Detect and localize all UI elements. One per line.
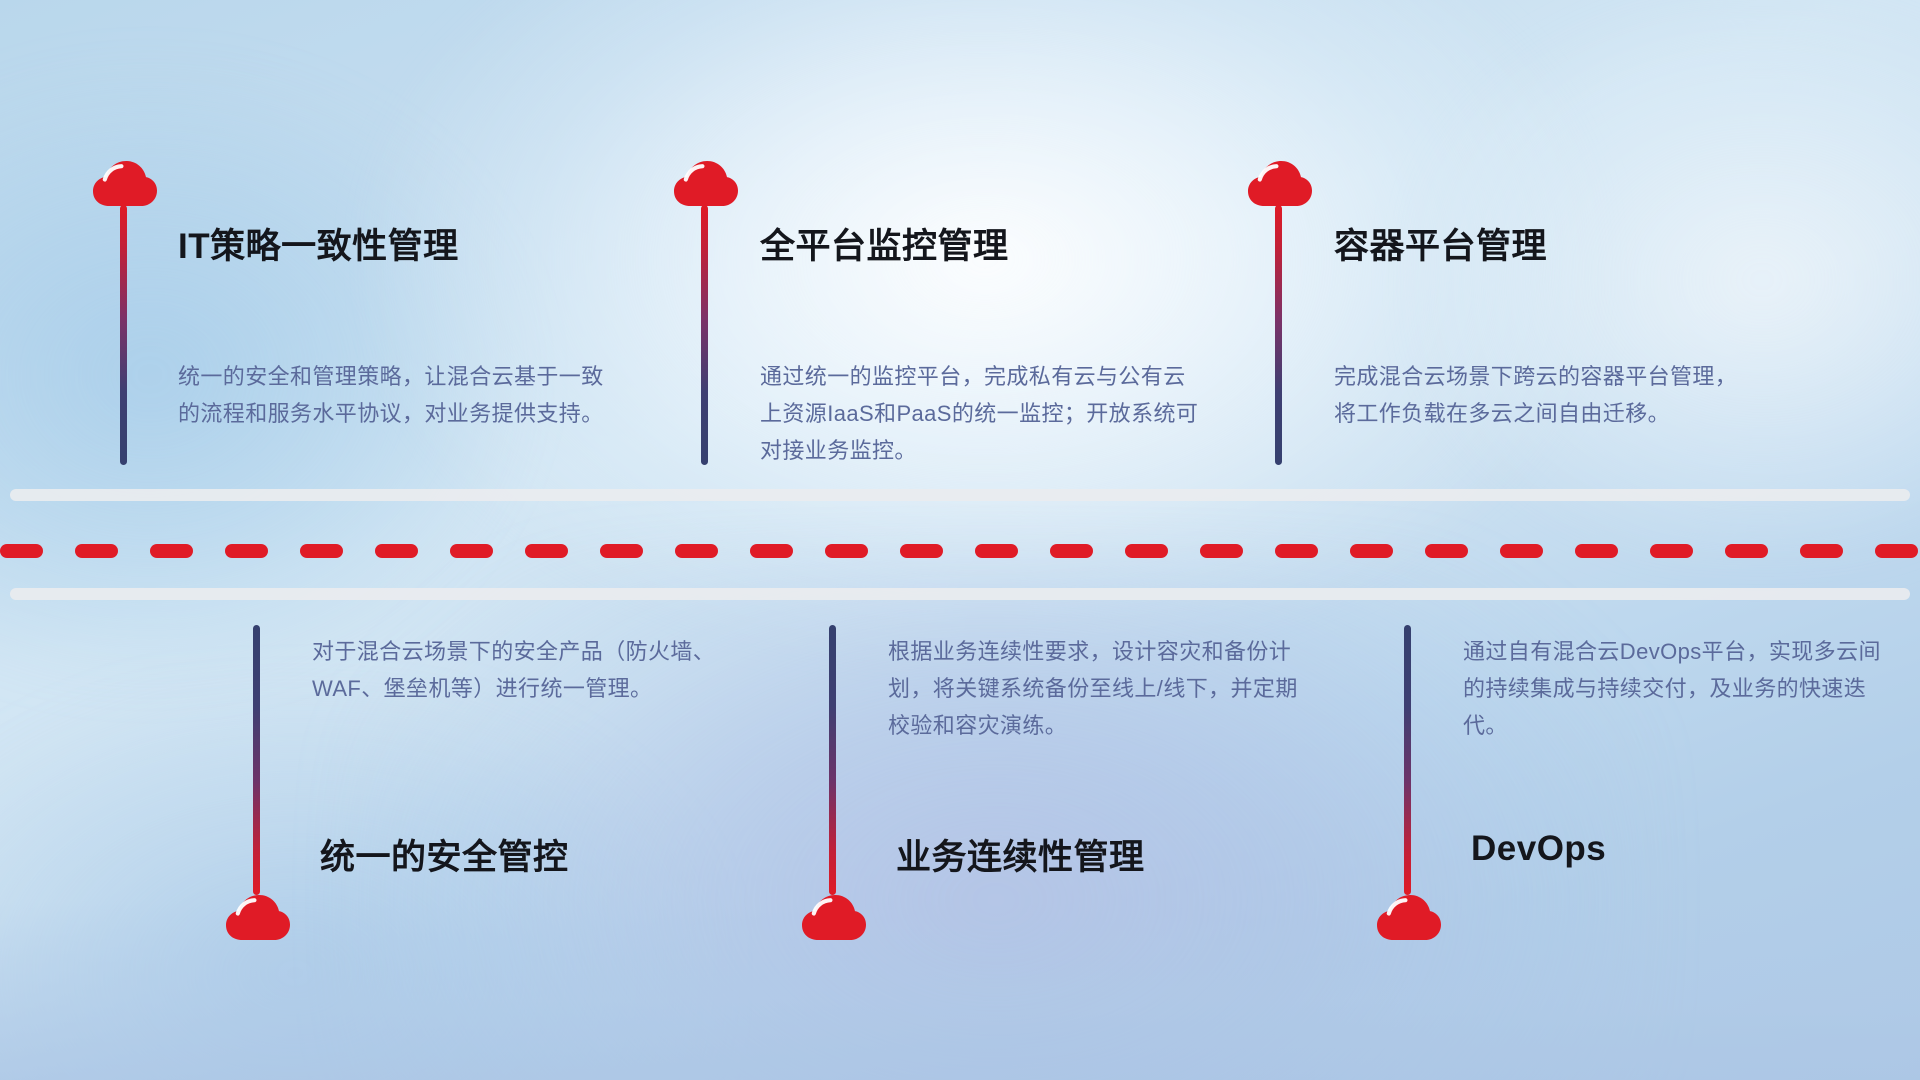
card-body: 完成混合云场景下跨云的容器平台管理，将工作负载在多云之间自由迁移。	[1334, 358, 1754, 432]
divider-dash	[1200, 544, 1243, 558]
divider-dash	[675, 544, 718, 558]
divider-dash	[450, 544, 493, 558]
divider-dash	[975, 544, 1018, 558]
card-title: DevOps	[1471, 829, 1606, 869]
divider-dash	[1050, 544, 1093, 558]
connector-stem	[1275, 205, 1282, 465]
divider-dash	[1725, 544, 1768, 558]
divider-dash	[825, 544, 868, 558]
divider-dash	[1575, 544, 1618, 558]
connector-stem	[120, 205, 127, 465]
card-body: 统一的安全和管理策略，让混合云基于一致的流程和服务水平协议，对业务提供支持。	[178, 358, 608, 432]
cloud-icon	[1247, 160, 1313, 208]
connector-stem	[701, 205, 708, 465]
divider-dash	[525, 544, 568, 558]
cloud-icon	[225, 894, 291, 942]
divider-dashed-line	[0, 544, 1920, 558]
card-body: 根据业务连续性要求，设计容灾和备份计划，将关键系统备份至线上/线下，并定期校验和…	[888, 633, 1318, 744]
divider-dash	[750, 544, 793, 558]
divider-dash	[600, 544, 643, 558]
card-title: 业务连续性管理	[896, 829, 1145, 880]
divider-line-top	[10, 489, 1910, 501]
divider-dash	[0, 544, 43, 558]
cloud-icon	[92, 160, 158, 208]
divider-dash	[1275, 544, 1318, 558]
divider-line-bottom	[10, 588, 1910, 600]
cloud-icon	[1376, 894, 1442, 942]
cloud-icon	[801, 894, 867, 942]
card-title: 全平台监控管理	[760, 218, 1009, 269]
card-body: 对于混合云场景下的安全产品（防火墙、WAF、堡垒机等）进行统一管理。	[312, 633, 742, 707]
divider-dash	[300, 544, 343, 558]
card-title: 统一的安全管控	[320, 829, 569, 880]
divider-dash	[1425, 544, 1468, 558]
divider-dash	[225, 544, 268, 558]
card-title: IT策略一致性管理	[178, 218, 459, 269]
divider-dash	[1125, 544, 1168, 558]
background-glow-right	[1412, 0, 1920, 560]
divider-dash	[1650, 544, 1693, 558]
connector-stem	[829, 625, 836, 895]
divider-dash	[75, 544, 118, 558]
card-body: 通过统一的监控平台，完成私有云与公有云上资源IaaS和PaaS的统一监控；开放系…	[760, 358, 1200, 469]
connector-stem	[1404, 625, 1411, 895]
divider-dash	[375, 544, 418, 558]
card-title: 容器平台管理	[1334, 218, 1547, 269]
divider-dash	[1800, 544, 1843, 558]
card-body: 通过自有混合云DevOps平台，实现多云间的持续集成与持续交付，及业务的快速迭代…	[1463, 633, 1883, 744]
connector-stem	[253, 625, 260, 895]
divider-dash	[900, 544, 943, 558]
cloud-icon	[673, 160, 739, 208]
divider-dash	[1350, 544, 1393, 558]
divider-dash	[1875, 544, 1918, 558]
divider-dash	[150, 544, 193, 558]
divider-dash	[1500, 544, 1543, 558]
infographic-canvas: IT策略一致性管理 统一的安全和管理策略，让混合云基于一致的流程和服务水平协议，…	[0, 0, 1920, 1080]
